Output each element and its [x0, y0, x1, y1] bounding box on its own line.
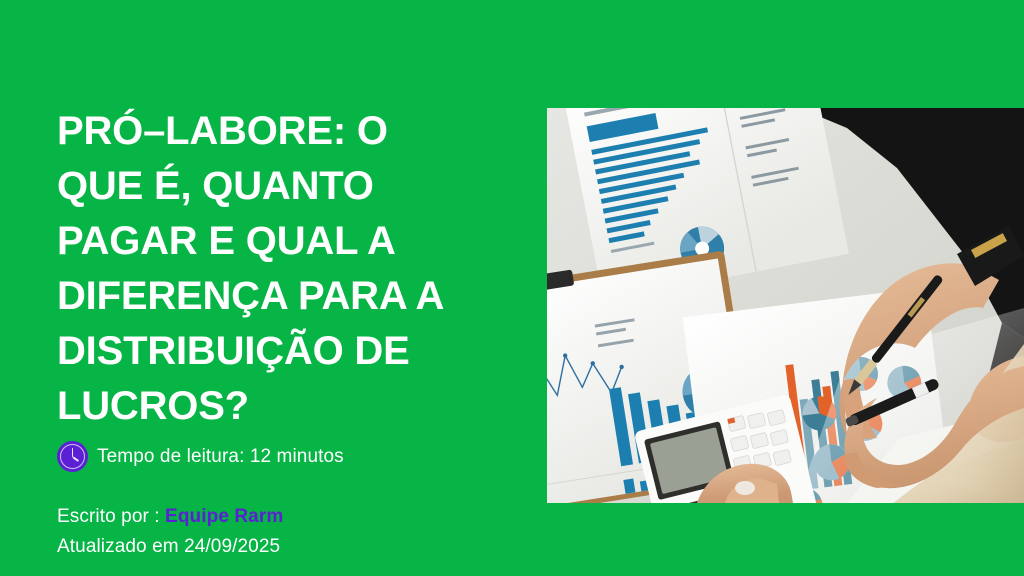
reading-time: Tempo de leitura: 12 minutos	[57, 441, 344, 472]
page-title: PRÓ–LABORE: O QUE É, QUANTO PAGAR E QUAL…	[57, 104, 527, 434]
byline-prefix: Escrito por :	[57, 506, 165, 527]
byline: Escrito por : Equipe Rarm	[57, 502, 283, 532]
author-link[interactable]: Equipe Rarm	[165, 506, 283, 527]
clock-icon	[57, 441, 88, 472]
article-meta: Escrito por : Equipe Rarm Atualizado em …	[57, 502, 283, 562]
hero-photo	[547, 108, 1024, 503]
clock-minute-hand	[72, 448, 74, 457]
hero-photo-illustration	[547, 108, 1024, 503]
article-header: PRÓ–LABORE: O QUE É, QUANTO PAGAR E QUAL…	[57, 104, 527, 434]
updated-date: Atualizado em 24/09/2025	[57, 532, 283, 562]
reading-time-label: Tempo de leitura: 12 minutos	[97, 446, 344, 468]
